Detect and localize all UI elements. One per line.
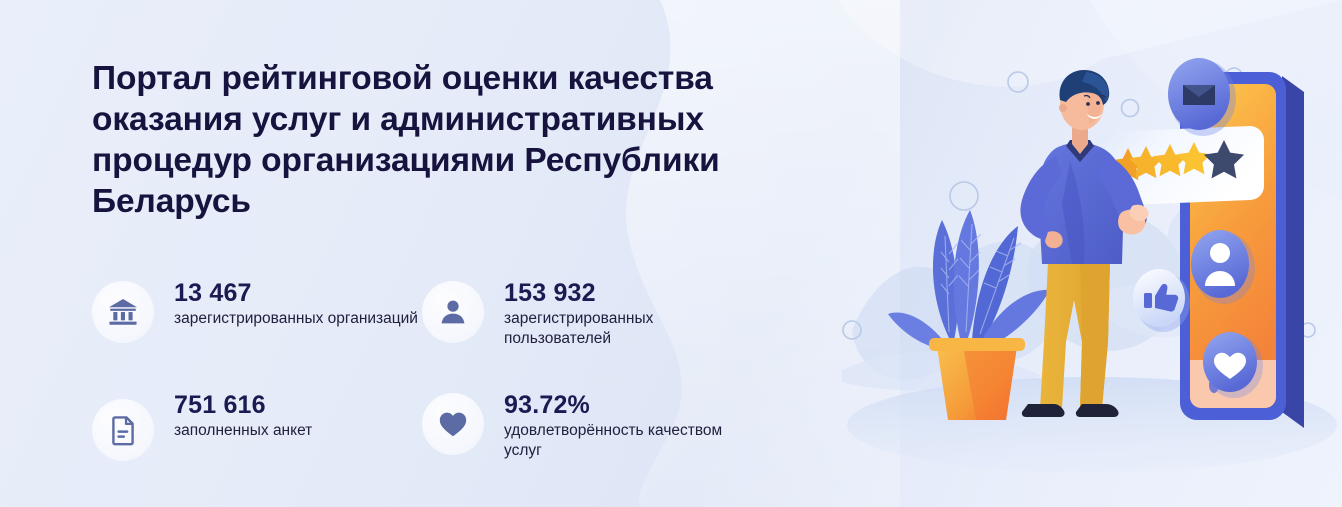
hero-banner: Портал рейтинговой оценки качества оказа…	[0, 0, 1342, 507]
user-icon	[422, 281, 484, 343]
stat-text: 93.72% удовлетворённость качеством услуг	[504, 389, 752, 461]
stat-label: удовлетворённость качеством услуг	[504, 421, 752, 461]
stat-text: 13 467 зарегистрированных организаций	[174, 277, 418, 329]
man-rating-smartphone-illustration	[842, 0, 1342, 507]
stat-label: заполненных анкет	[174, 421, 312, 441]
stat-value: 153 932	[504, 278, 752, 308]
stat-registered-organizations: 13 467 зарегистрированных организаций	[92, 277, 422, 389]
stat-registered-users: 153 932 зарегистрированных пользователей	[422, 277, 752, 389]
stat-value: 751 616	[174, 390, 312, 420]
stat-service-satisfaction: 93.72% удовлетворённость качеством услуг	[422, 389, 752, 501]
heart-icon	[422, 393, 484, 455]
stat-filled-forms: 751 616 заполненных анкет	[92, 389, 422, 501]
stat-label: зарегистрированных организаций	[174, 309, 418, 329]
bubble-envelope	[1168, 58, 1236, 136]
page-title: Портал рейтинговой оценки качества оказа…	[92, 58, 792, 222]
stat-value: 93.72%	[504, 390, 752, 420]
stat-text: 751 616 заполненных анкет	[174, 389, 312, 441]
stat-value: 13 467	[174, 278, 418, 308]
stats-grid: 13 467 зарегистрированных организаций 15…	[92, 277, 792, 501]
hero-content: Портал рейтинговой оценки качества оказа…	[0, 0, 840, 507]
stat-text: 153 932 зарегистрированных пользователей	[504, 277, 752, 349]
document-icon	[92, 399, 154, 461]
bank-icon	[92, 281, 154, 343]
stat-label: зарегистрированных пользователей	[504, 309, 752, 349]
